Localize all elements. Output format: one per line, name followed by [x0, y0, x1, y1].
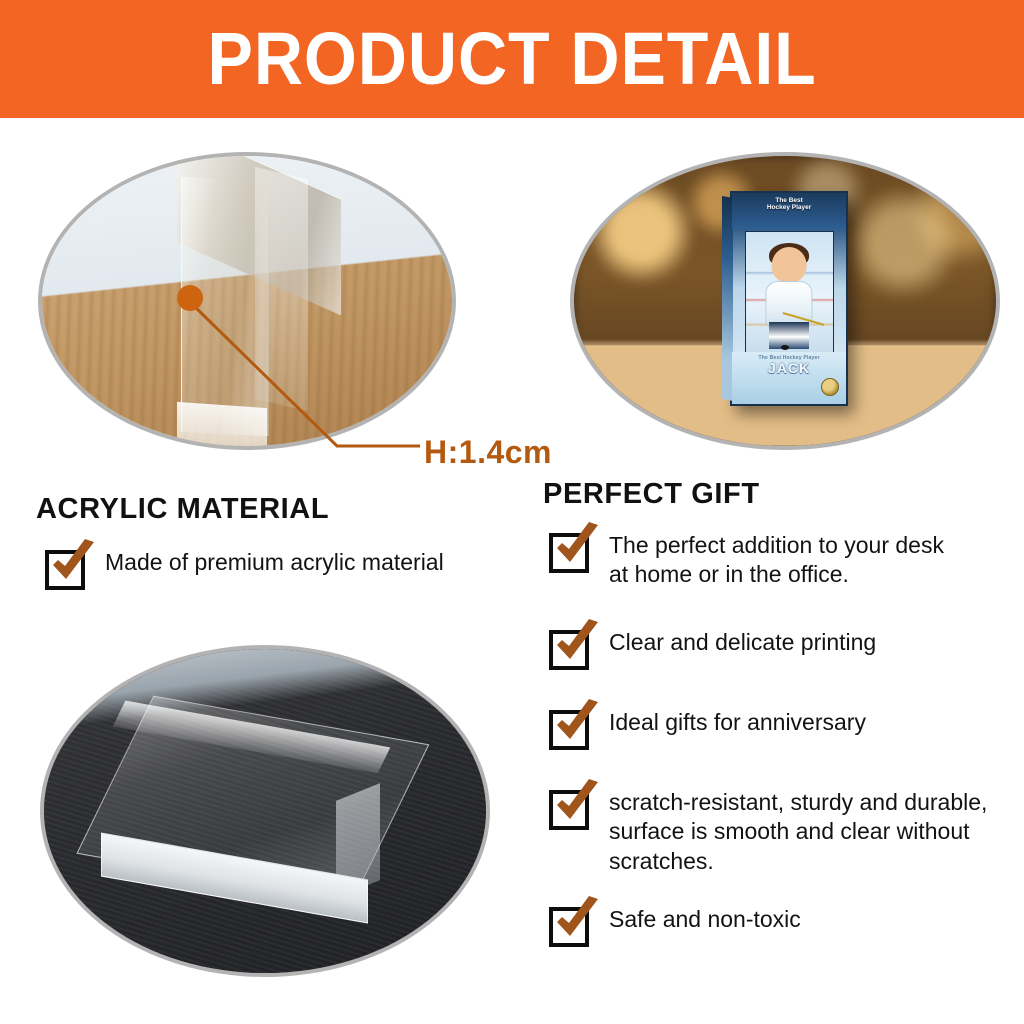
feature-label: scratch-resistant, sturdy and durable, s…: [609, 788, 987, 876]
acrylic-slab-base: [177, 402, 267, 449]
checkbox-icon[interactable]: [549, 907, 589, 947]
feature-label: Clear and delicate printing: [609, 628, 876, 657]
product-box-window: [745, 231, 834, 356]
checkmark-icon: [551, 698, 603, 750]
feature-label: The perfect addition to your desk at hom…: [609, 531, 944, 590]
checkmark-icon: [551, 618, 603, 670]
feature-label: Ideal gifts for anniversary: [609, 708, 866, 737]
figurine-legs: [769, 322, 809, 349]
checkbox-icon[interactable]: [45, 550, 85, 590]
wood-floor-scene: [42, 156, 452, 446]
feature-item-acrylic-0: Made of premium acrylic material: [45, 548, 444, 590]
section-heading-acrylic-material: ACRYLIC MATERIAL: [36, 493, 329, 526]
feature-label: Safe and non-toxic: [609, 905, 801, 934]
header-banner: PRODUCT DETAIL: [0, 0, 1024, 118]
feature-item-gift-1: Clear and delicate printing: [549, 628, 876, 670]
figurine-head: [772, 247, 807, 284]
feature-item-gift-2: Ideal gifts for anniversary: [549, 708, 866, 750]
hockey-puck-icon: [781, 345, 789, 350]
acrylic-slab-side-face: [255, 167, 308, 411]
box-header-line-2: Hockey Player: [732, 204, 846, 211]
page-title: PRODUCT DETAIL: [207, 22, 816, 96]
photo-acrylic-block: [40, 645, 490, 977]
dimension-label: H:1.4cm: [424, 434, 552, 471]
bokeh-scene: The Best Hockey Player The Best Hockey P…: [574, 156, 996, 446]
feature-item-gift-3: scratch-resistant, sturdy and durable, s…: [549, 788, 987, 876]
photo-acrylic-thickness: [38, 152, 456, 450]
checkmark-icon: [47, 538, 99, 590]
checkbox-icon[interactable]: [549, 630, 589, 670]
section-heading-perfect-gift: PERFECT GIFT: [543, 478, 760, 511]
photo-gift-box: The Best Hockey Player The Best Hockey P…: [570, 152, 1000, 450]
gold-seal-icon: [821, 378, 839, 396]
checkmark-icon: [551, 521, 603, 573]
slate-scene: [44, 649, 486, 973]
checkmark-icon: [551, 778, 603, 830]
box-footer-name: JACK: [732, 361, 846, 375]
product-box: The Best Hockey Player The Best Hockey P…: [730, 191, 848, 407]
feature-label: Made of premium acrylic material: [105, 548, 444, 577]
checkbox-icon[interactable]: [549, 790, 589, 830]
checkmark-icon: [551, 895, 603, 947]
product-box-footer: The Best Hockey Player JACK: [732, 352, 846, 405]
checkbox-icon[interactable]: [549, 710, 589, 750]
checkbox-icon[interactable]: [549, 533, 589, 573]
feature-item-gift-0: The perfect addition to your desk at hom…: [549, 531, 944, 590]
feature-item-gift-4: Safe and non-toxic: [549, 905, 801, 947]
product-box-header: The Best Hockey Player: [732, 193, 846, 229]
